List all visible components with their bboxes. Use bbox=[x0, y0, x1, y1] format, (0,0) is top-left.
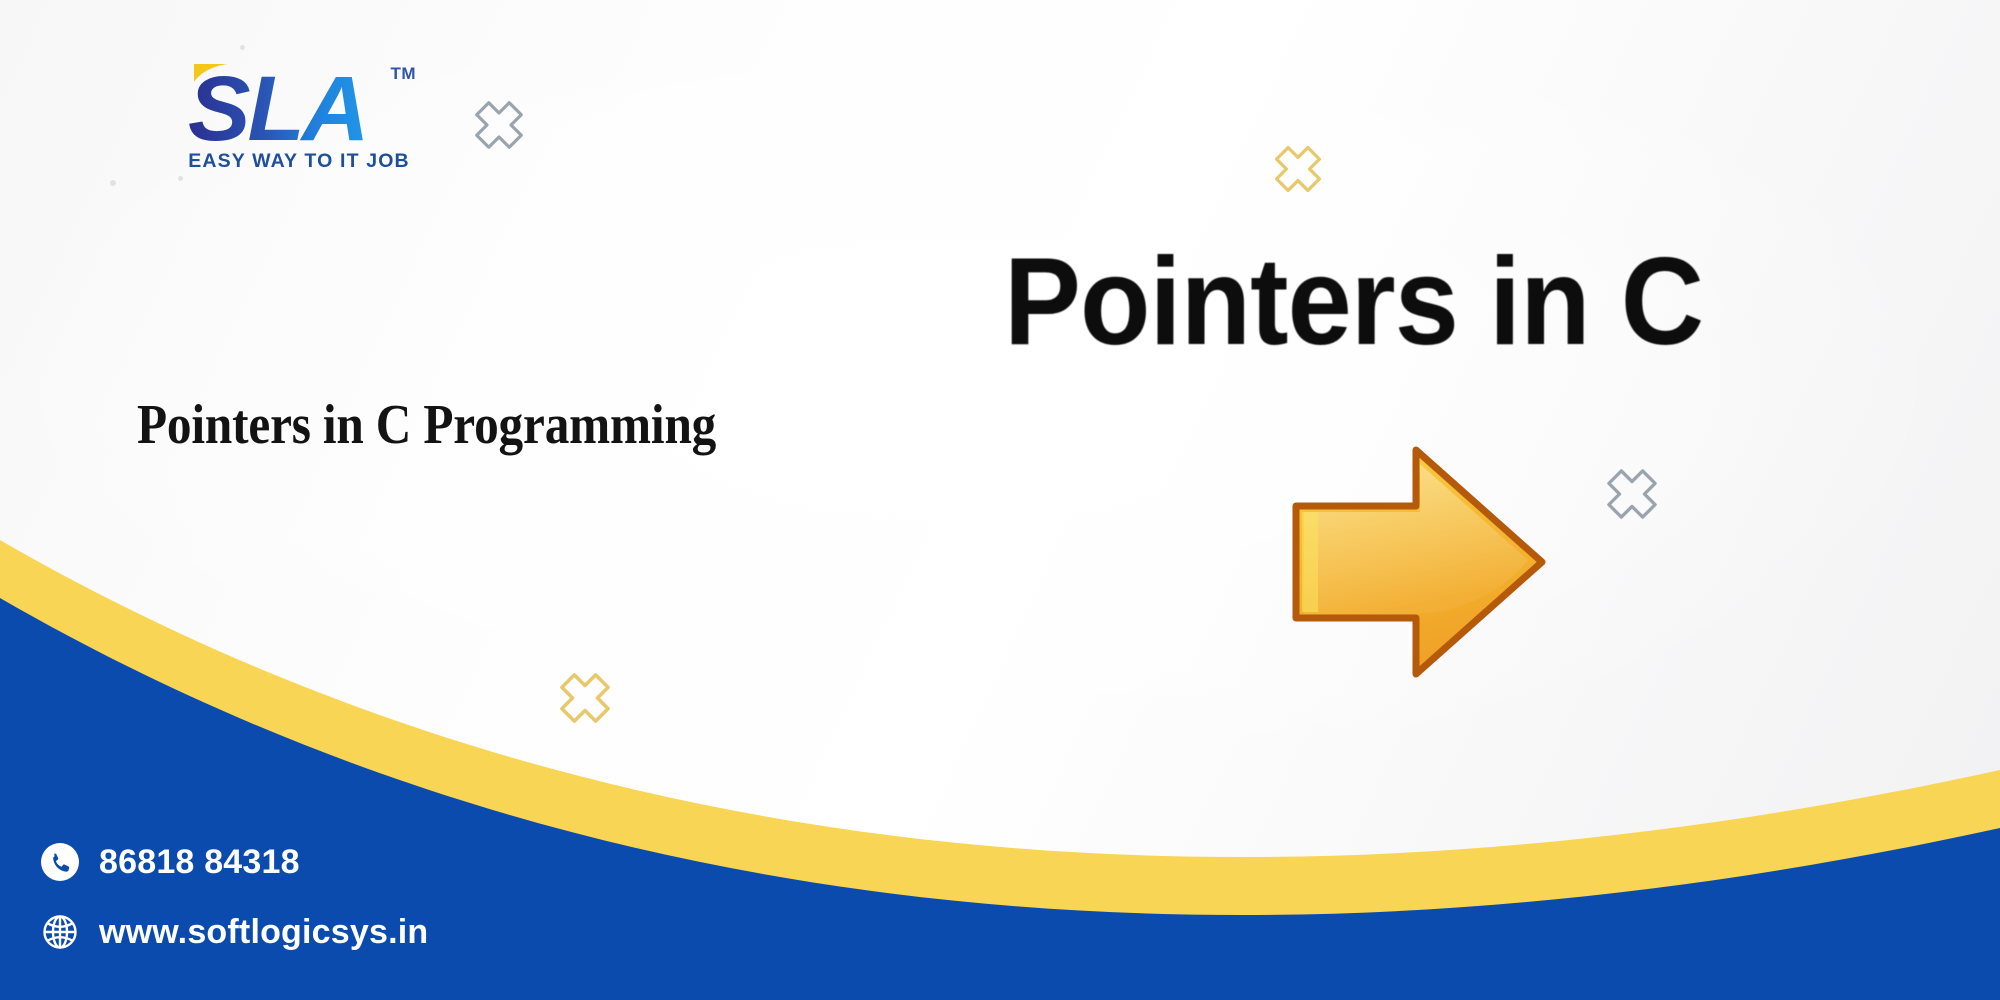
cross-x-icon bbox=[557, 670, 613, 726]
hero-title: Pointers in C bbox=[1004, 240, 1703, 364]
svg-text:SLA: SLA bbox=[188, 62, 366, 148]
phone-icon bbox=[40, 842, 80, 882]
speck-dot bbox=[178, 176, 183, 181]
cross-x-icon bbox=[472, 98, 526, 152]
trademark-symbol: TM bbox=[390, 64, 416, 84]
page-title: Pointers in C Programming bbox=[137, 396, 716, 455]
cross-x-icon bbox=[1604, 466, 1660, 522]
speck-dot bbox=[110, 180, 116, 186]
sla-logo[interactable]: SLA TM EASY WAY TO IT JOB bbox=[188, 62, 438, 192]
cross-x-icon bbox=[1272, 143, 1324, 195]
banner-root: SLA TM EASY WAY TO IT JOB Pointers in C … bbox=[0, 0, 2000, 1000]
speck-dot bbox=[240, 45, 245, 50]
sla-logo-mark: SLA TM bbox=[188, 62, 418, 148]
contact-website[interactable]: www.softlogicsys.in bbox=[40, 912, 428, 952]
website-url: www.softlogicsys.in bbox=[99, 913, 428, 952]
globe-icon bbox=[40, 912, 80, 952]
contact-phone[interactable]: 86818 84318 bbox=[40, 842, 428, 882]
right-arrow-icon bbox=[1288, 442, 1550, 682]
phone-number: 86818 84318 bbox=[99, 843, 300, 882]
logo-tagline: EASY WAY TO IT JOB bbox=[188, 150, 410, 173]
contact-info: 86818 84318 www.softlogicsys.in bbox=[40, 842, 428, 952]
